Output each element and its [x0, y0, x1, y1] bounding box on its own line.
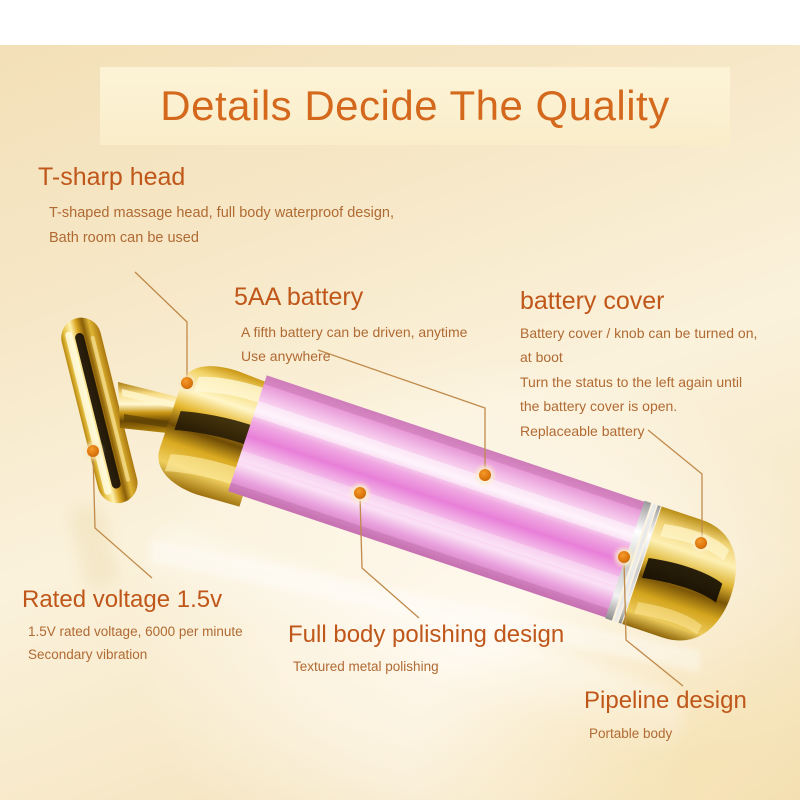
- callout-line: Replaceable battery: [520, 419, 757, 444]
- callout-heading-full-body-polishing: Full body polishing design: [288, 622, 564, 648]
- infographic-canvas: Details Decide The Quality T-sharp head …: [0, 0, 800, 800]
- callout-line: 1.5V rated voltage, 6000 per minute: [28, 620, 243, 643]
- callout-body-full-body-polishing: Textured metal polishing: [288, 656, 564, 678]
- callout-heading-5aa-battery: 5AA battery: [234, 284, 467, 312]
- callout-pipeline-design: Pipeline design Portable body: [584, 688, 747, 745]
- callout-line: T-shaped massage head, full body waterpr…: [49, 201, 394, 226]
- callout-heading-t-sharp-head: T-sharp head: [38, 164, 394, 192]
- leader-rated-voltage: [93, 454, 152, 578]
- callout-body-t-sharp-head: T-shaped massage head, full body waterpr…: [38, 201, 394, 251]
- hotspot-rated-voltage[interactable]: [85, 443, 102, 460]
- callout-line: Portable body: [589, 723, 747, 745]
- callout-body-5aa-battery: A fifth battery can be driven, anytime U…: [234, 320, 467, 368]
- callout-body-battery-cover: Battery cover / knob can be turned on, a…: [520, 321, 757, 444]
- leader-battery-cover: [648, 430, 702, 540]
- callout-t-sharp-head: T-sharp head T-shaped massage head, full…: [38, 164, 394, 251]
- callout-heading-rated-voltage: Rated voltage 1.5v: [22, 587, 243, 613]
- callout-line: the battery cover is open.: [520, 394, 757, 419]
- callout-heading-battery-cover: battery cover: [520, 288, 757, 316]
- leader-t-sharp-head: [135, 272, 187, 380]
- leader-pipeline-design: [624, 560, 683, 686]
- callout-line: at boot: [520, 345, 757, 370]
- callout-line: Turn the status to the left again until: [520, 370, 757, 395]
- callout-heading-pipeline-design: Pipeline design: [584, 688, 747, 714]
- callout-line: Battery cover / knob can be turned on,: [520, 321, 757, 346]
- leader-full-body-polishing: [360, 496, 419, 618]
- hotspot-t-sharp-head[interactable]: [179, 375, 196, 392]
- hotspot-5aa-battery[interactable]: [476, 466, 494, 484]
- callout-battery-cover: battery cover Battery cover / knob can b…: [520, 288, 757, 443]
- leader-5aa-battery: [318, 350, 485, 472]
- callout-line: A fifth battery can be driven, anytime: [241, 320, 467, 344]
- callout-line: Use anywhere: [241, 344, 467, 368]
- callout-full-body-polishing: Full body polishing design Textured meta…: [288, 622, 564, 678]
- callout-line: Textured metal polishing: [293, 656, 564, 678]
- callout-5aa-battery: 5AA battery A fifth battery can be drive…: [234, 284, 467, 368]
- callout-rated-voltage: Rated voltage 1.5v 1.5V rated voltage, 6…: [22, 587, 243, 666]
- page-title: Details Decide The Quality: [100, 69, 730, 143]
- callout-body-rated-voltage: 1.5V rated voltage, 6000 per minute Seco…: [22, 620, 243, 666]
- callout-line: Secondary vibration: [28, 643, 243, 666]
- hotspot-full-body-polishing[interactable]: [351, 484, 369, 502]
- callout-body-pipeline-design: Portable body: [584, 723, 747, 745]
- hotspot-pipeline-design[interactable]: [615, 548, 633, 566]
- hotspot-battery-cover[interactable]: [692, 534, 710, 552]
- callout-line: Bath room can be used: [49, 226, 394, 251]
